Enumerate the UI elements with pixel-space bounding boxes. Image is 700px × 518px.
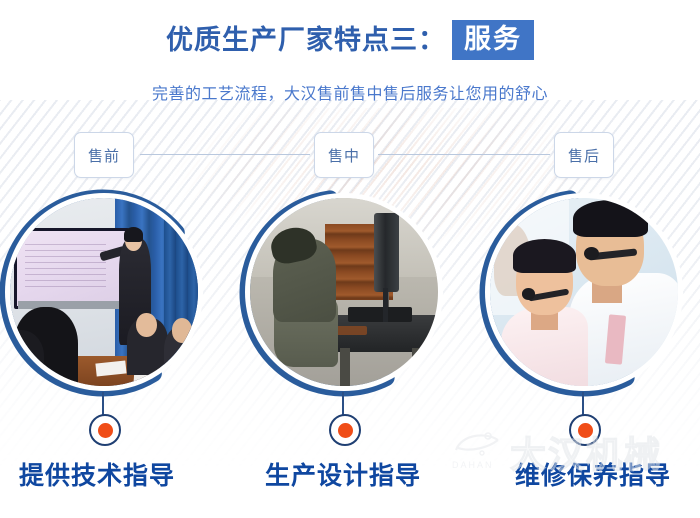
circle-dot-marker-icon-2 bbox=[329, 414, 361, 446]
training-room-photo bbox=[10, 198, 198, 386]
stage-column-3: 维修保养指导 bbox=[468, 180, 698, 518]
stage-caption-2: 生产设计指导 bbox=[228, 456, 458, 492]
circle-dot-marker-icon-1 bbox=[89, 414, 121, 446]
stage-caption-1: 提供技术指导 bbox=[0, 456, 212, 492]
stage-column-2: 生产设计指导 bbox=[228, 180, 458, 518]
page-subtitle: 完善的工艺流程，大汉售前售中售后服务让您用的舒心 bbox=[0, 80, 700, 104]
connector-line-1 bbox=[140, 154, 310, 155]
infographic-canvas: 优质生产厂家特点三： 服务 完善的工艺流程，大汉售前售中售后服务让您用的舒心 售… bbox=[0, 0, 700, 518]
page-title-text: 优质生产厂家特点三： bbox=[166, 23, 446, 57]
stage-caption-3: 维修保养指导 bbox=[478, 456, 700, 492]
page-title: 优质生产厂家特点三： 服务 bbox=[0, 20, 700, 60]
stage-photo-3 bbox=[490, 198, 678, 386]
stage-photo-1 bbox=[10, 198, 198, 386]
page-title-highlight-badge: 服务 bbox=[452, 20, 534, 60]
stage-chip-mid-sale[interactable]: 售中 bbox=[314, 132, 374, 178]
stage-chip-pre-sale[interactable]: 售前 bbox=[74, 132, 134, 178]
circle-dot-marker-icon-3 bbox=[569, 414, 601, 446]
stage-chip-after-sale[interactable]: 售后 bbox=[554, 132, 614, 178]
connector-line-2 bbox=[378, 154, 550, 155]
workshop-machining-photo bbox=[250, 198, 438, 386]
customer-service-headset-photo bbox=[490, 198, 678, 386]
stage-column-1: 提供技术指导 bbox=[0, 180, 218, 518]
stage-photo-2 bbox=[250, 198, 438, 386]
